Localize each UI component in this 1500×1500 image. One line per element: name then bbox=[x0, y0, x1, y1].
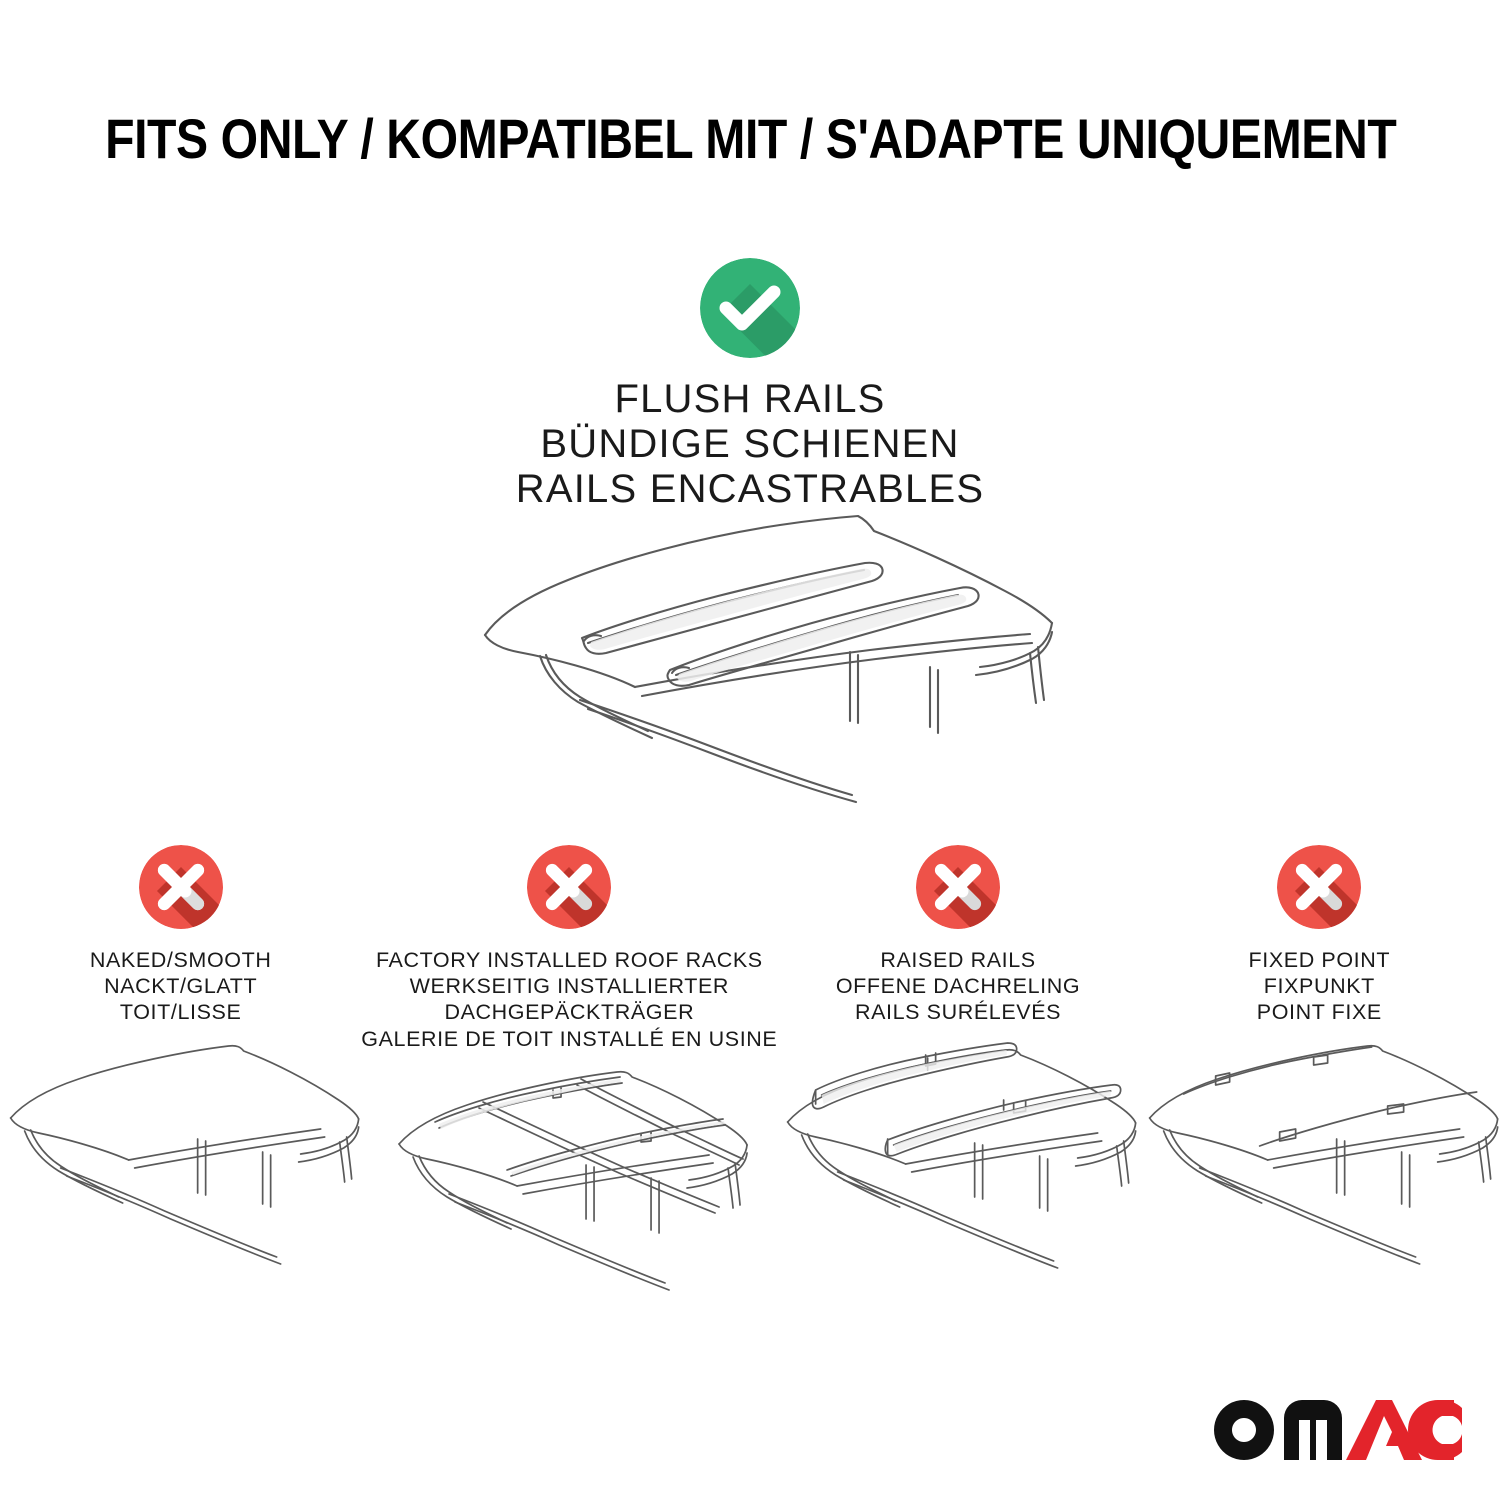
label-de-2: DACHGEPÄCKTRÄGER bbox=[361, 999, 777, 1025]
page-title-text: FITS ONLY / KOMPATIBEL MIT / S'ADAPTE UN… bbox=[105, 108, 1396, 170]
label-de: FIXPUNKT bbox=[1139, 973, 1500, 999]
cross-icon-glyph bbox=[139, 845, 223, 929]
incompatible-labels-factory-roof-racks: FACTORY INSTALLED ROOF RACKS WERKSEITIG … bbox=[361, 947, 777, 1052]
label-en: FIXED POINT bbox=[1139, 947, 1500, 973]
incompatible-column-factory-roof-racks: FACTORY INSTALLED ROOF RACKS WERKSEITIG … bbox=[361, 845, 777, 1301]
compatible-section: FLUSH RAILS BÜNDIGE SCHIENEN RAILS ENCAS… bbox=[0, 258, 1500, 513]
car-roof-with-flush-rails-illustration bbox=[460, 495, 1060, 805]
incompatible-labels-naked-smooth: NAKED/SMOOTH NACKT/GLATT TOIT/LISSE bbox=[0, 947, 361, 1026]
incompatible-column-fixed-point: FIXED POINT FIXPUNKT POINT FIXE bbox=[1139, 845, 1500, 1275]
omac-logo bbox=[1210, 1386, 1468, 1482]
cross-icon-glyph bbox=[1277, 845, 1361, 929]
cross-circle-icon bbox=[916, 845, 1000, 929]
label-de: OFFENE DACHRELING bbox=[777, 973, 1138, 999]
label-en: RAISED RAILS bbox=[777, 947, 1138, 973]
compatible-label-en: FLUSH RAILS bbox=[0, 377, 1500, 422]
incompatible-labels-fixed-point: FIXED POINT FIXPUNKT POINT FIXE bbox=[1139, 947, 1500, 1026]
label-en: NAKED/SMOOTH bbox=[0, 947, 361, 973]
compatible-label-de: BÜNDIGE SCHIENEN bbox=[0, 422, 1500, 467]
car-roof-with-fixed-points-illustration bbox=[1139, 1040, 1500, 1275]
label-de: NACKT/GLATT bbox=[0, 973, 361, 999]
label-en: FACTORY INSTALLED ROOF RACKS bbox=[361, 947, 777, 973]
incompatible-column-naked-smooth: NAKED/SMOOTH NACKT/GLATT TOIT/LISSE bbox=[0, 845, 361, 1275]
cross-icon-glyph bbox=[916, 845, 1000, 929]
check-circle-icon bbox=[700, 258, 800, 358]
incompatible-column-raised-rails: RAISED RAILS OFFENE DACHRELING RAILS SUR… bbox=[777, 845, 1138, 1275]
incompatible-sections: NAKED/SMOOTH NACKT/GLATT TOIT/LISSE bbox=[0, 845, 1500, 1301]
incompatible-labels-raised-rails: RAISED RAILS OFFENE DACHRELING RAILS SUR… bbox=[777, 947, 1138, 1026]
cross-circle-icon bbox=[527, 845, 611, 929]
car-roof-with-raised-rails-illustration bbox=[777, 1040, 1138, 1275]
car-roof-with-factory-crossbars-illustration bbox=[361, 1066, 777, 1301]
check-icon-glyph bbox=[700, 258, 800, 358]
cross-circle-icon bbox=[1277, 845, 1361, 929]
label-fr: POINT FIXE bbox=[1139, 999, 1500, 1025]
label-fr: TOIT/LISSE bbox=[0, 999, 361, 1025]
cross-circle-icon bbox=[139, 845, 223, 929]
cross-icon-glyph bbox=[527, 845, 611, 929]
car-roof-bare-illustration bbox=[0, 1040, 361, 1275]
label-de-1: WERKSEITIG INSTALLIERTER bbox=[361, 973, 777, 999]
label-fr: RAILS SURÉLEVÉS bbox=[777, 999, 1138, 1025]
page-title: FITS ONLY / KOMPATIBEL MIT / S'ADAPTE UN… bbox=[0, 108, 1500, 170]
compatible-labels: FLUSH RAILS BÜNDIGE SCHIENEN RAILS ENCAS… bbox=[0, 377, 1500, 513]
label-fr: GALERIE DE TOIT INSTALLÉ EN USINE bbox=[361, 1026, 777, 1052]
